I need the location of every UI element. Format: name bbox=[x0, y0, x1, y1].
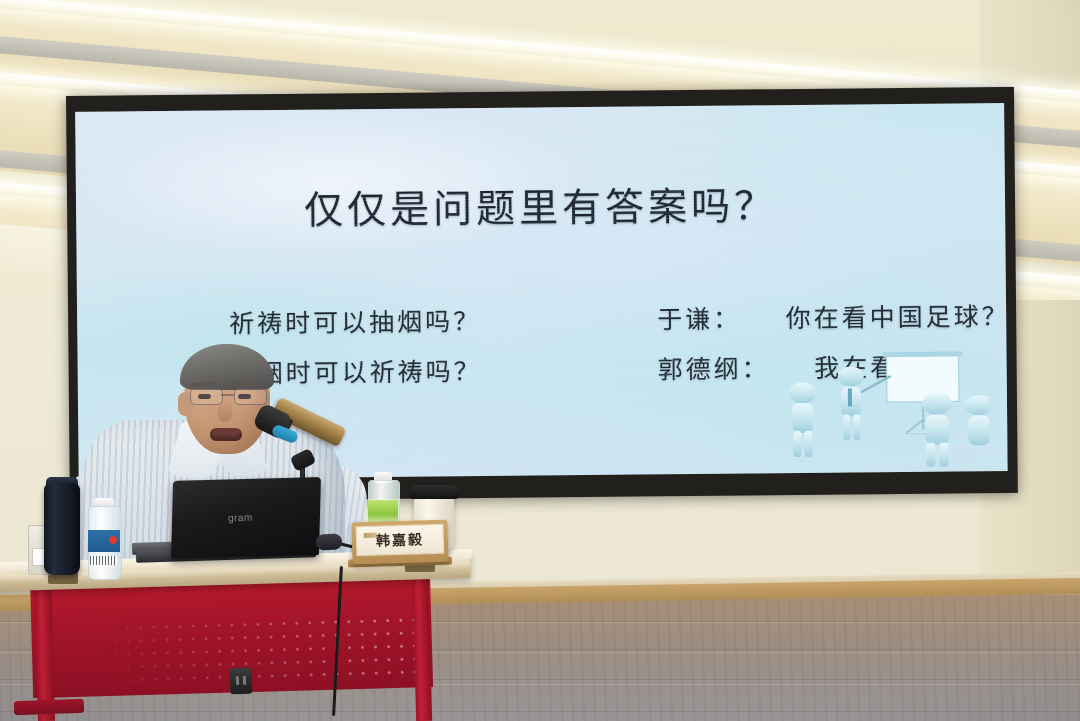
thermos-bottle bbox=[44, 483, 80, 575]
laptop-brand-logo: gram bbox=[228, 513, 253, 525]
desk-perforation-pattern bbox=[95, 613, 427, 686]
barcode bbox=[90, 556, 117, 565]
slide-title: 仅仅是问题里有答案吗？ bbox=[76, 185, 1005, 233]
socket-pin bbox=[236, 676, 239, 685]
dialog-speaker-1: 于谦： bbox=[657, 307, 741, 335]
placard-name-text: 韩嘉毅 bbox=[376, 529, 425, 550]
placard-face: 韩嘉毅 bbox=[356, 524, 445, 556]
dialog-speaker-2: 郭德纲： bbox=[658, 356, 770, 384]
flipchart-icon bbox=[882, 351, 963, 434]
label-dot bbox=[109, 536, 117, 544]
desk-foot bbox=[14, 699, 84, 715]
power-socket[interactable] bbox=[230, 668, 253, 695]
conference-room-scene: 仅仅是问题里有答案吗？ 祈祷时可以抽烟吗？ 抽烟时可以祈祷吗？ 于谦： 你在看中… bbox=[0, 0, 1080, 721]
name-placard: 韩嘉毅 bbox=[351, 520, 448, 565]
slide-left-line-1: 祈祷时可以抽烟吗？ bbox=[229, 298, 481, 350]
mouth bbox=[210, 428, 242, 441]
glasses-lens bbox=[234, 388, 267, 405]
coffee-cup-lid bbox=[409, 485, 459, 499]
glasses-bridge bbox=[221, 394, 234, 396]
presentation-clipart bbox=[778, 347, 989, 469]
socket-pin bbox=[243, 676, 246, 685]
nose bbox=[218, 400, 232, 422]
water-bottle-label bbox=[88, 530, 120, 552]
screen-glare bbox=[75, 107, 587, 259]
computer-mouse[interactable] bbox=[316, 533, 343, 550]
dialog-text-1: 你在看中国足球？ bbox=[786, 304, 1008, 333]
slide-right-line-1: 于谦： 你在看中国足球？ bbox=[657, 293, 1008, 346]
placard-logo-icon bbox=[364, 533, 377, 538]
audience-figure-icon bbox=[922, 393, 953, 467]
presenter-figure-icon bbox=[838, 366, 892, 441]
audience-figure-icon bbox=[965, 395, 990, 445]
audience-figure-icon bbox=[789, 382, 818, 457]
